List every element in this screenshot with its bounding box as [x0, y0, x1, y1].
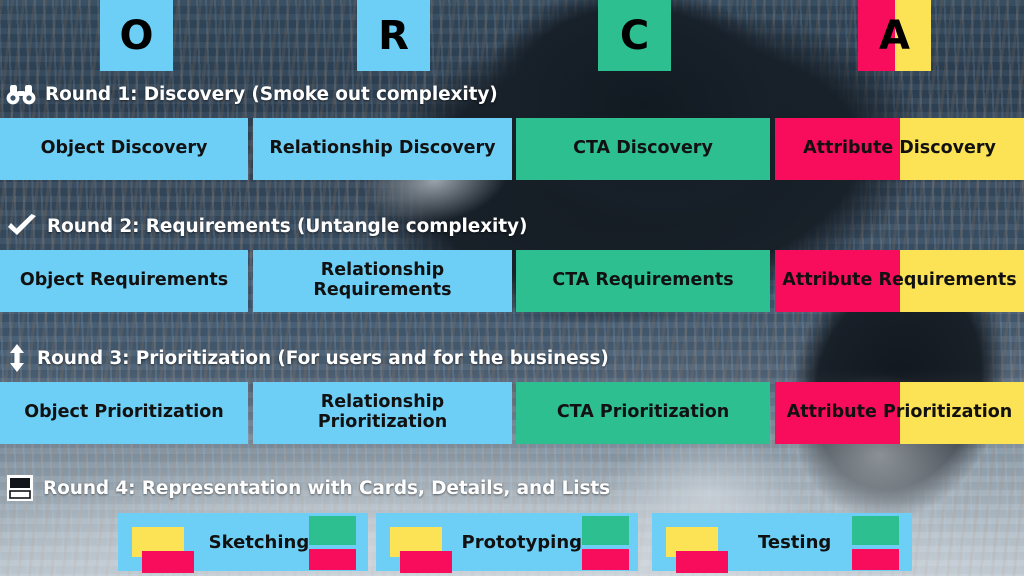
round-4-item-label: Prototyping — [462, 532, 583, 553]
letter-block-a: A — [858, 0, 931, 71]
bar-label: Attribute Discovery — [803, 139, 996, 159]
bar-label: CTA Requirements — [552, 271, 733, 291]
bar-label: Relationship Discovery — [269, 139, 495, 159]
round-4-heading: Round 4: Representation with Cards, Deta… — [6, 474, 610, 502]
bar-object-prioritization[interactable]: Object Prioritization — [0, 382, 248, 444]
bar-relationship-requirements[interactable]: Relationship Requirements — [253, 250, 512, 312]
round-4-item-testing[interactable]: Testing — [652, 513, 912, 571]
chip-green — [582, 516, 629, 545]
round-1-heading: Round 1: Discovery (Smoke out complexity… — [6, 80, 498, 108]
bar-cta-discovery[interactable]: CTA Discovery — [516, 118, 770, 180]
bar-attribute-requirements[interactable]: Attribute Requirements — [775, 250, 1024, 312]
bar-label: Object Discovery — [41, 139, 208, 159]
card-chip-testing — [666, 527, 718, 557]
round-4-item-label: Sketching — [209, 532, 310, 553]
binoculars-icon — [6, 83, 36, 105]
card-chip-prototyping — [390, 527, 438, 557]
list-chip-prototyping — [582, 516, 625, 568]
updown-arrow-icon — [6, 344, 28, 372]
bar-attribute-discovery[interactable]: Attribute Discovery — [775, 118, 1024, 180]
bar-label: Attribute Prioritization — [787, 403, 1013, 423]
bar-label: Attribute Requirements — [782, 271, 1016, 291]
checkmark-icon — [6, 214, 38, 238]
chip-pink — [676, 551, 728, 573]
chip-pink — [852, 549, 899, 570]
letter-block-r: R — [357, 0, 430, 71]
round-3-heading: Round 3: Prioritization (For users and f… — [6, 344, 609, 372]
bar-object-requirements[interactable]: Object Requirements — [0, 250, 248, 312]
chip-green — [852, 516, 899, 545]
round-1-bar-row: Object Discovery Relationship Discovery … — [0, 118, 1024, 180]
round-2-heading-text: Round 2: Requirements (Untangle complexi… — [47, 216, 527, 237]
bar-label: CTA Discovery — [573, 139, 713, 159]
round-4-item-prototyping[interactable]: Prototyping — [376, 513, 638, 571]
letter-glyph: R — [378, 16, 409, 56]
round-2-bar-row: Object Requirements Relationship Require… — [0, 250, 1024, 312]
card-chip-sketching — [132, 527, 183, 557]
bar-relationship-discovery[interactable]: Relationship Discovery — [253, 118, 512, 180]
chip-pink — [142, 551, 194, 573]
bar-label: Object Requirements — [20, 271, 228, 291]
card-detail-icon — [6, 474, 34, 502]
list-chip-sketching — [309, 516, 355, 568]
chip-pink — [400, 551, 452, 573]
round-4-item-label: Testing — [758, 532, 831, 553]
letter-glyph: O — [119, 16, 153, 56]
chip-pink — [582, 549, 629, 570]
round-2-heading: Round 2: Requirements (Untangle complexi… — [6, 212, 527, 240]
bar-attribute-prioritization[interactable]: Attribute Prioritization — [775, 382, 1024, 444]
round-4-item-row: Sketching Prototyping Testing — [0, 513, 1024, 571]
bar-cta-requirements[interactable]: CTA Requirements — [516, 250, 770, 312]
letter-block-o: O — [100, 0, 173, 71]
bar-cta-prioritization[interactable]: CTA Prioritization — [516, 382, 770, 444]
round-4-item-sketching[interactable]: Sketching — [118, 513, 368, 571]
bar-label: CTA Prioritization — [557, 403, 729, 423]
round-4-heading-text: Round 4: Representation with Cards, Deta… — [43, 478, 610, 499]
round-1-heading-text: Round 1: Discovery (Smoke out complexity… — [45, 84, 498, 105]
bar-relationship-prioritization[interactable]: Relationship Prioritization — [253, 382, 512, 444]
bar-object-discovery[interactable]: Object Discovery — [0, 118, 248, 180]
letter-glyph: A — [879, 16, 910, 56]
chip-pink — [309, 549, 356, 570]
round-3-bar-row: Object Prioritization Relationship Prior… — [0, 382, 1024, 444]
bar-label: Object Prioritization — [24, 403, 223, 423]
bar-label: Relationship Requirements — [259, 261, 506, 300]
chip-green — [309, 516, 356, 545]
letter-block-c: C — [598, 0, 671, 71]
letter-glyph: C — [620, 16, 649, 56]
list-chip-testing — [852, 516, 899, 568]
round-3-heading-text: Round 3: Prioritization (For users and f… — [37, 348, 609, 369]
bar-label: Relationship Prioritization — [259, 393, 506, 432]
acronym-letter-row: O R C A — [0, 0, 1024, 71]
